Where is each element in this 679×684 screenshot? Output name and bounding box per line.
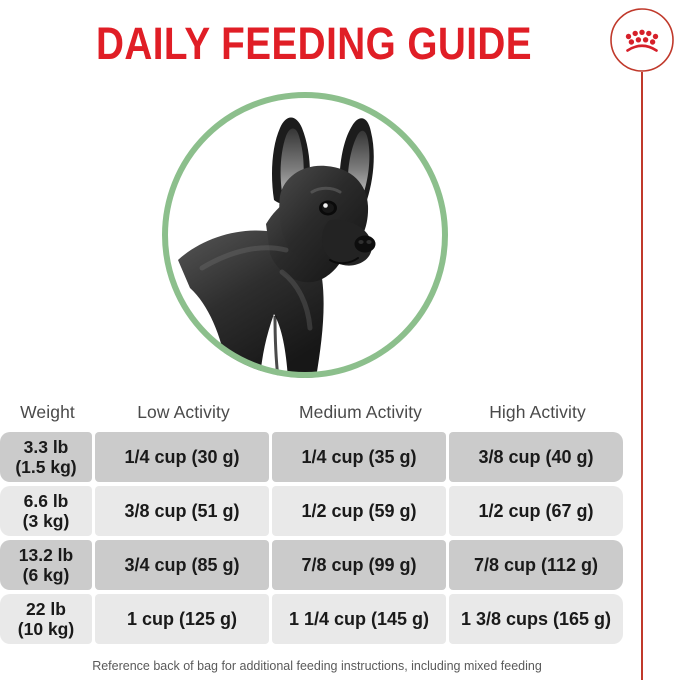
cell-high-activity: 3/8 cup (40 g) <box>449 432 623 482</box>
cell-high-activity: 7/8 cup (112 g) <box>449 540 623 590</box>
weight-kg: (3 kg) <box>23 511 70 531</box>
cell-weight: 3.3 lb (1.5 kg) <box>0 432 92 482</box>
cell-high-activity: 1/2 cup (67 g) <box>449 486 623 536</box>
cell-medium-activity: 1/4 cup (35 g) <box>272 432 446 482</box>
cell-high-activity: 1 3/8 cups (165 g) <box>449 594 623 644</box>
cell-weight: 6.6 lb (3 kg) <box>0 486 92 536</box>
weight-lb: 6.6 lb <box>24 491 69 511</box>
hero-dog-portrait <box>162 92 448 378</box>
cell-medium-activity: 1/2 cup (59 g) <box>272 486 446 536</box>
weight-kg: (1.5 kg) <box>15 457 76 477</box>
table-row: 13.2 lb (6 kg) 3/4 cup (85 g) 7/8 cup (9… <box>0 540 634 590</box>
weight-kg: (10 kg) <box>18 619 74 639</box>
table-row: 22 lb (10 kg) 1 cup (125 g) 1 1/4 cup (1… <box>0 594 634 644</box>
cell-weight: 22 lb (10 kg) <box>0 594 92 644</box>
column-header-medium: Medium Activity <box>272 402 449 423</box>
cell-low-activity: 3/8 cup (51 g) <box>95 486 269 536</box>
table-row: 3.3 lb (1.5 kg) 1/4 cup (30 g) 1/4 cup (… <box>0 432 634 482</box>
right-accent-line <box>641 72 643 680</box>
page-title: DAILY FEEDING GUIDE <box>44 18 584 70</box>
footnote-text: Reference back of bag for additional fee… <box>0 659 634 673</box>
weight-lb: 13.2 lb <box>19 545 73 565</box>
royal-canin-crown-icon <box>608 6 676 74</box>
table-header-row: Weight Low Activity Medium Activity High… <box>0 392 634 432</box>
cell-low-activity: 1/4 cup (30 g) <box>95 432 269 482</box>
weight-kg: (6 kg) <box>23 565 70 585</box>
cell-low-activity: 1 cup (125 g) <box>95 594 269 644</box>
weight-lb: 22 lb <box>26 599 66 619</box>
cell-low-activity: 3/4 cup (85 g) <box>95 540 269 590</box>
hero-green-ring <box>162 92 448 378</box>
cell-medium-activity: 1 1/4 cup (145 g) <box>272 594 446 644</box>
weight-lb: 3.3 lb <box>24 437 69 457</box>
column-header-weight: Weight <box>0 402 95 423</box>
cell-medium-activity: 7/8 cup (99 g) <box>272 540 446 590</box>
table-row: 6.6 lb (3 kg) 3/8 cup (51 g) 1/2 cup (59… <box>0 486 634 536</box>
cell-weight: 13.2 lb (6 kg) <box>0 540 92 590</box>
feeding-guide-table: Weight Low Activity Medium Activity High… <box>0 392 634 648</box>
column-header-low: Low Activity <box>95 402 272 423</box>
column-header-high: High Activity <box>449 402 626 423</box>
